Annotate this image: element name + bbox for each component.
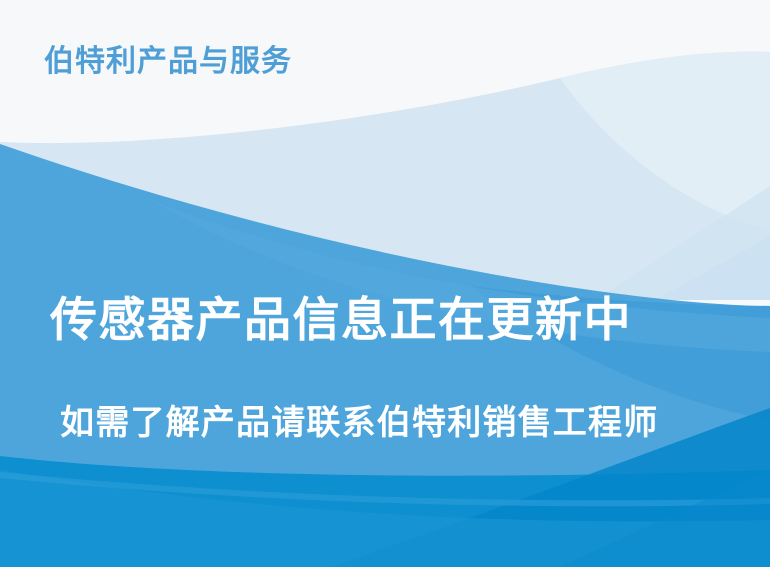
product-banner: 伯特利产品与服务 传感器产品信息正在更新中 如需了解产品请联系伯特利销售工程师 — [0, 0, 770, 567]
headline-text: 传感器产品信息正在更新中 — [50, 296, 632, 343]
banner-content: 伯特利产品与服务 传感器产品信息正在更新中 如需了解产品请联系伯特利销售工程师 — [0, 0, 770, 567]
brand-title: 伯特利产品与服务 — [44, 47, 292, 77]
subheadline-text: 如需了解产品请联系伯特利销售工程师 — [60, 406, 658, 440]
